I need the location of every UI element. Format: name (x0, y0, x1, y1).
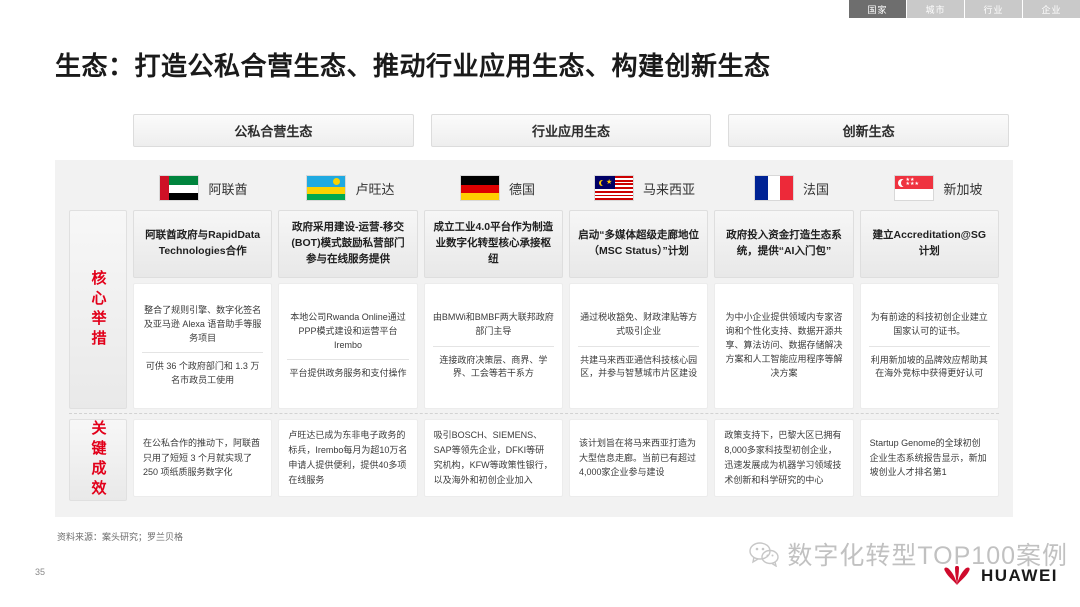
detail-card-rwanda: 本地公司Rwanda Online通过PPP模式建设和运营平台Irembo 平台… (278, 283, 417, 409)
row-label-key-outcomes: 关键成效 (69, 419, 127, 501)
detail-top-rwanda: 本地公司Rwanda Online通过PPP模式建设和运营平台Irembo (287, 311, 408, 353)
outcome-card-singapore: Startup Genome的全球初创企业生态系统报告显示，新加坡创业人才排名第… (860, 419, 999, 497)
country-cell-malaysia: ★ 马来西亚 (574, 168, 715, 208)
category-ppp-ecosystem: 公私合营生态 (133, 114, 414, 147)
detail-bottom-uae: 可供 36 个政府部门和 1.3 万名市政员工使用 (142, 352, 263, 388)
detail-card-france: 为中小企业提供领域内专家咨询和个性化支持、数据开源共享、算法访问、数据存储解决方… (714, 283, 853, 409)
country-label-uae: 阿联酋 (208, 179, 247, 198)
country-cell-germany: 德国 (427, 168, 568, 208)
row-divider (69, 413, 999, 414)
detail-card-germany: 由BMWi和BMBF两大联邦政府部门主导 连接政府决策层、商界、学界、工会等若干… (424, 283, 563, 409)
country-label-singapore: 新加坡 (943, 179, 982, 198)
tab-industry[interactable]: 行业 (964, 0, 1022, 18)
matrix-grid: 核心举措 阿联酋政府与RapidData Technologies合作 政府采用… (69, 210, 999, 501)
malaysia-flag-icon: ★ (594, 175, 634, 201)
detail-top-malaysia: 通过税收豁免、财政津贴等方式吸引企业 (578, 311, 699, 339)
huawei-logo: HUAWEI (940, 566, 1058, 586)
page-title: 生态：打造公私合营生态、推动行业应用生态、构建创新生态 (55, 46, 771, 83)
detail-top-france: 为中小企业提供领域内专家咨询和个性化支持、数据开源共享、算法访问、数据存储解决方… (723, 311, 844, 381)
country-label-rwanda: 卢旺达 (355, 179, 394, 198)
measures-row: 核心举措 阿联酋政府与RapidData Technologies合作 政府采用… (69, 210, 999, 409)
measure-card-singapore: 建立Accreditation@SG计划 (860, 210, 999, 278)
detail-bottom-singapore: 利用新加坡的品牌效应帮助其在海外竞标中获得更好认可 (869, 346, 990, 382)
category-header-band: 公私合营生态 行业应用生态 创新生态 (133, 114, 1009, 147)
outcome-card-uae: 在公私合作的推动下，阿联酋只用了短短 3 个月就实现了 250 项纸质服务数字化 (133, 419, 272, 497)
detail-top-germany: 由BMWi和BMBF两大联邦政府部门主导 (433, 311, 554, 339)
page-number: 35 (35, 567, 45, 577)
country-cell-france: 法国 (721, 168, 862, 208)
source-note: 资料来源：案头研究；罗兰贝格 (57, 530, 183, 543)
detail-card-singapore: 为有前途的科技初创企业建立国家认可的证书。 利用新加坡的品牌效应帮助其在海外竞标… (860, 283, 999, 409)
france-flag-icon (754, 175, 794, 201)
detail-top-uae: 整合了规则引擎、数字化签名及亚马逊 Alexa 语音助手等服务项目 (142, 304, 263, 346)
row-label-core-measures: 核心举措 (69, 210, 127, 409)
huawei-wordmark: HUAWEI (981, 566, 1058, 586)
outcome-card-france: 政策支持下，巴黎大区已拥有8,000多家科技型初创企业，迅速发展成为机器学习领域… (714, 419, 853, 497)
detail-card-uae: 整合了规则引擎、数字化签名及亚马逊 Alexa 语音助手等服务项目 可供 36 … (133, 283, 272, 409)
outcome-card-germany: 吸引BOSCH、SIEMENS、SAP等领先企业，DFKI等研究机构，KFW等政… (424, 419, 563, 497)
detail-bottom-germany: 连接政府决策层、商界、学界、工会等若干系方 (433, 346, 554, 382)
wechat-icon (749, 541, 779, 567)
tab-enterprise[interactable]: 企业 (1022, 0, 1080, 18)
outcome-card-malaysia: 该计划旨在将马来西亚打造为大型信息走廊。当前已有超过4,000家企业参与建设 (569, 419, 708, 497)
outcome-card-rwanda: 卢旺达已成为东非电子政务的标兵，Irembo每月为超10万名申请人提供便利，提供… (278, 419, 417, 497)
country-flag-row: 阿联酋 卢旺达 德国 ★ 马来西亚 (133, 168, 1009, 208)
rwanda-flag-icon (306, 175, 346, 201)
detail-bottom-rwanda: 平台提供政务服务和支付操作 (287, 359, 408, 381)
country-label-france: 法国 (803, 179, 829, 198)
country-label-germany: 德国 (509, 179, 535, 198)
country-cell-rwanda: 卢旺达 (280, 168, 421, 208)
detail-card-malaysia: 通过税收豁免、财政津贴等方式吸引企业 共建马来西亚通信科技核心园区，并参与智慧城… (569, 283, 708, 409)
uae-flag-icon (159, 175, 199, 201)
category-industry-application: 行业应用生态 (431, 114, 712, 147)
country-cell-uae: 阿联酋 (133, 168, 274, 208)
tab-country[interactable]: 国家 (848, 0, 906, 18)
detail-top-singapore: 为有前途的科技初创企业建立国家认可的证书。 (869, 311, 990, 339)
tab-city[interactable]: 城市 (906, 0, 964, 18)
outcomes-row: 关键成效 在公私合作的推动下，阿联酋只用了短短 3 个月就实现了 250 项纸质… (69, 419, 999, 501)
measure-card-germany: 成立工业4.0平台作为制造业数字化转型核心承接枢纽 (424, 210, 563, 278)
measure-card-malaysia: 启动“多媒体超级走廊地位（MSC Status）”计划 (569, 210, 708, 278)
country-label-malaysia: 马来西亚 (643, 179, 695, 198)
top-tab-bar: 国家 城市 行业 企业 (848, 0, 1080, 18)
category-innovation: 创新生态 (728, 114, 1009, 147)
measure-card-france: 政府投入资金打造生态系统，提供“AI入门包” (714, 210, 853, 278)
germany-flag-icon (460, 175, 500, 201)
content-panel: 阿联酋 卢旺达 德国 ★ 马来西亚 (55, 160, 1013, 517)
row-label-key-outcomes-text: 关键成效 (88, 420, 109, 500)
country-cell-singapore: ★★★★★ 新加坡 (868, 168, 1009, 208)
outcome-cards-row: 在公私合作的推动下，阿联酋只用了短短 3 个月就实现了 250 项纸质服务数字化… (133, 419, 999, 501)
singapore-flag-icon: ★★★★★ (894, 175, 934, 201)
detail-cards-row: 整合了规则引擎、数字化签名及亚马逊 Alexa 语音助手等服务项目 可供 36 … (133, 283, 999, 409)
measure-cards-row: 阿联酋政府与RapidData Technologies合作 政府采用建设-运营… (133, 210, 999, 278)
measure-card-uae: 阿联酋政府与RapidData Technologies合作 (133, 210, 272, 278)
row-label-core-measures-text: 核心举措 (88, 270, 109, 350)
huawei-flower-icon (940, 566, 974, 586)
measure-card-rwanda: 政府采用建设-运营-移交(BOT)模式鼓励私营部门参与在线服务提供 (278, 210, 417, 278)
detail-bottom-malaysia: 共建马来西亚通信科技核心园区，并参与智慧城市片区建设 (578, 346, 699, 382)
